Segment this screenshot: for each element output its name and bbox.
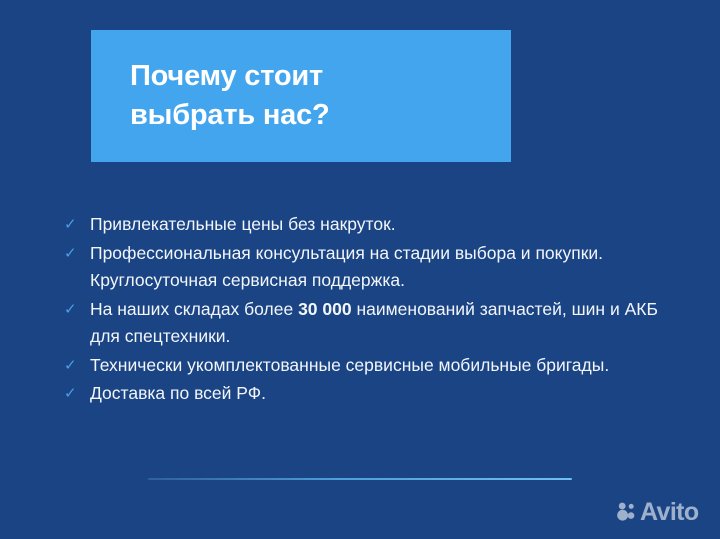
list-item: ✓ Привлекательные цены без накруток. <box>64 211 664 239</box>
list-item: ✓ Профессиональная консультация на стади… <box>64 240 664 295</box>
title-banner: Почему стоит выбрать нас? <box>91 30 511 162</box>
check-icon: ✓ <box>64 240 82 268</box>
avito-watermark: Avito <box>616 501 699 523</box>
list-item-label-before: На наших складах более <box>90 299 298 319</box>
check-icon: ✓ <box>64 211 82 239</box>
benefits-list: ✓ Привлекательные цены без накруток. ✓ П… <box>64 211 664 409</box>
list-item-label: Привлекательные цены без накруток. <box>90 211 664 239</box>
avito-logo-icon <box>616 501 638 523</box>
list-item-label: На наших складах более 30 000 наименован… <box>90 296 664 351</box>
check-icon: ✓ <box>64 380 82 408</box>
slide-canvas: Почему стоит выбрать нас? ✓ Привлекатель… <box>0 0 720 539</box>
list-item: ✓ Технически укомплектованные сервисные … <box>64 352 664 380</box>
list-item-label: Технически укомплектованные сервисные мо… <box>90 352 664 380</box>
page-title: Почему стоит выбрать нас? <box>130 57 511 135</box>
list-item: ✓ На наших складах более 30 000 наименов… <box>64 296 664 351</box>
check-icon: ✓ <box>64 296 82 324</box>
list-item: ✓ Доставка по всей РФ. <box>64 380 664 408</box>
list-item-label: Профессиональная консультация на стадии … <box>90 240 664 295</box>
avito-wordmark: Avito <box>640 501 699 523</box>
list-item-label: Доставка по всей РФ. <box>90 380 664 408</box>
check-icon: ✓ <box>64 352 82 380</box>
list-item-highlight: 30 000 <box>298 299 352 319</box>
divider <box>148 478 572 480</box>
